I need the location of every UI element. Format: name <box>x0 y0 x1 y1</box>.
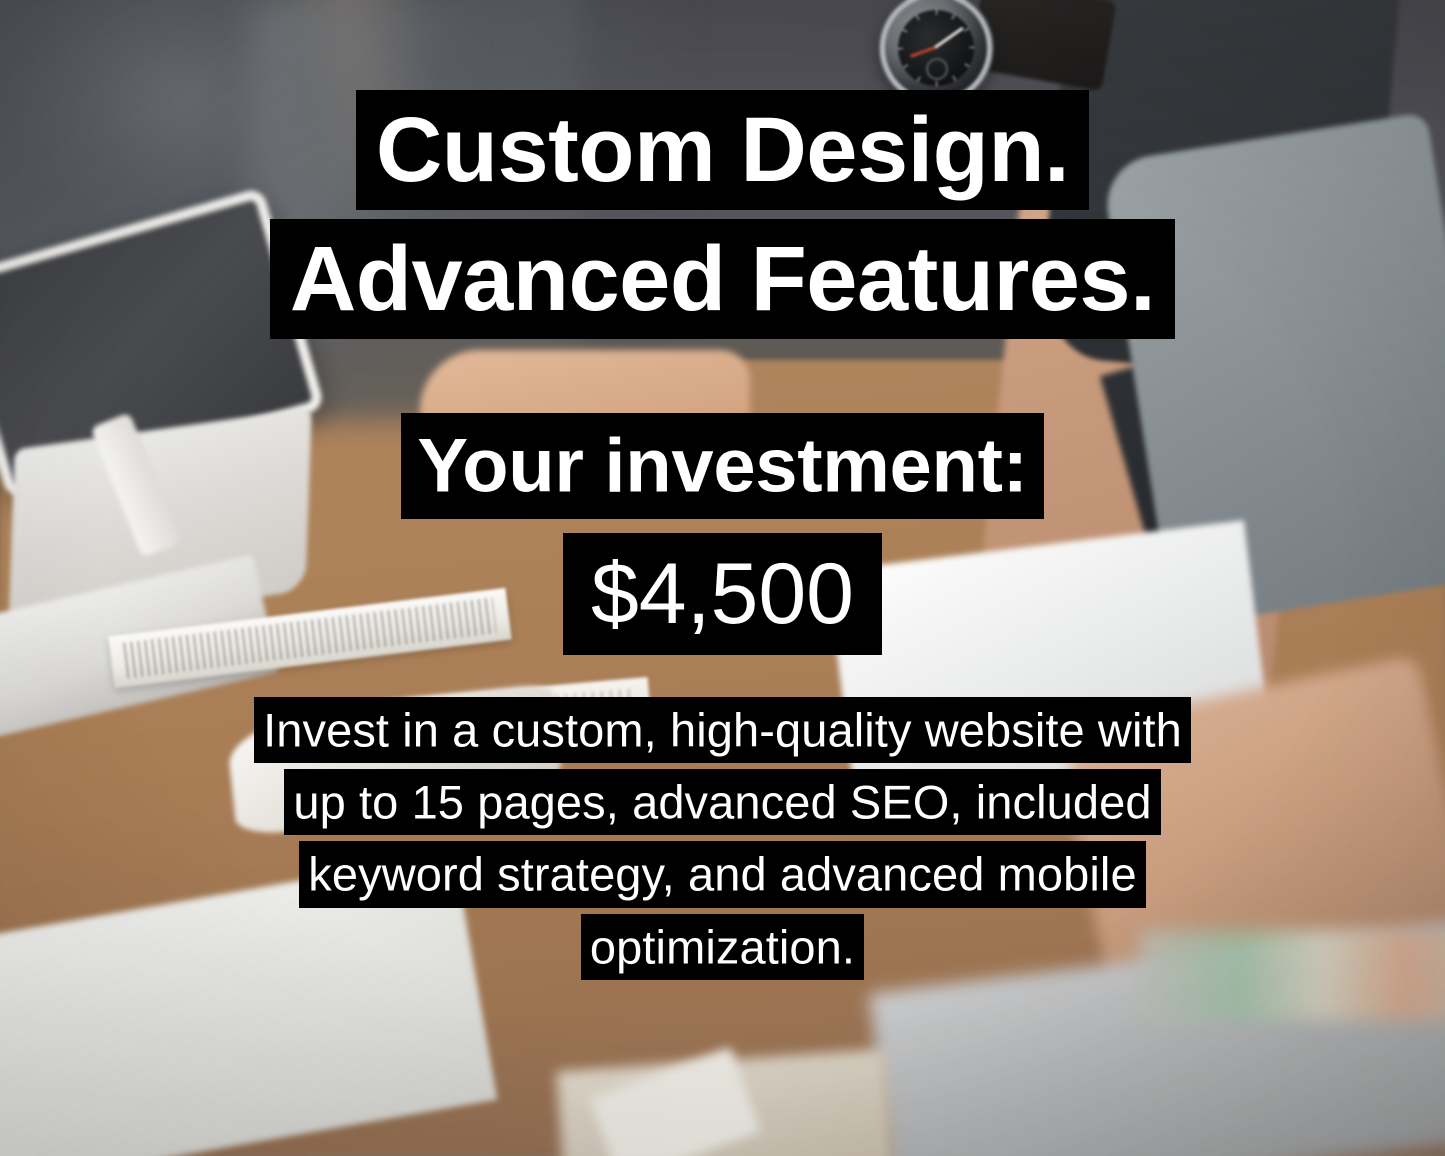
investment-label: Your investment: <box>0 412 1445 522</box>
price-value: $4,500 <box>0 534 1445 654</box>
body-line-1: Invest in a custom, high-quality website… <box>254 697 1192 763</box>
headline-line-1: Custom Design. <box>356 90 1090 210</box>
promo-graphic-canvas: Custom Design. Advanced Features. Your i… <box>0 0 1445 1156</box>
body-line-4: optimization. <box>581 914 865 980</box>
text-overlay: Custom Design. Advanced Features. Your i… <box>0 0 1445 1156</box>
body-line-2: up to 15 pages, advanced SEO, included <box>284 769 1161 835</box>
headline: Custom Design. Advanced Features. <box>0 86 1445 344</box>
body-copy: Invest in a custom, high-quality website… <box>173 694 1273 984</box>
body-line-3: keyword strategy, and advanced mobile <box>299 841 1146 907</box>
headline-line-2: Advanced Features. <box>270 219 1176 339</box>
price-amount: $4,500 <box>563 533 881 655</box>
investment-label-text: Your investment: <box>401 413 1045 519</box>
